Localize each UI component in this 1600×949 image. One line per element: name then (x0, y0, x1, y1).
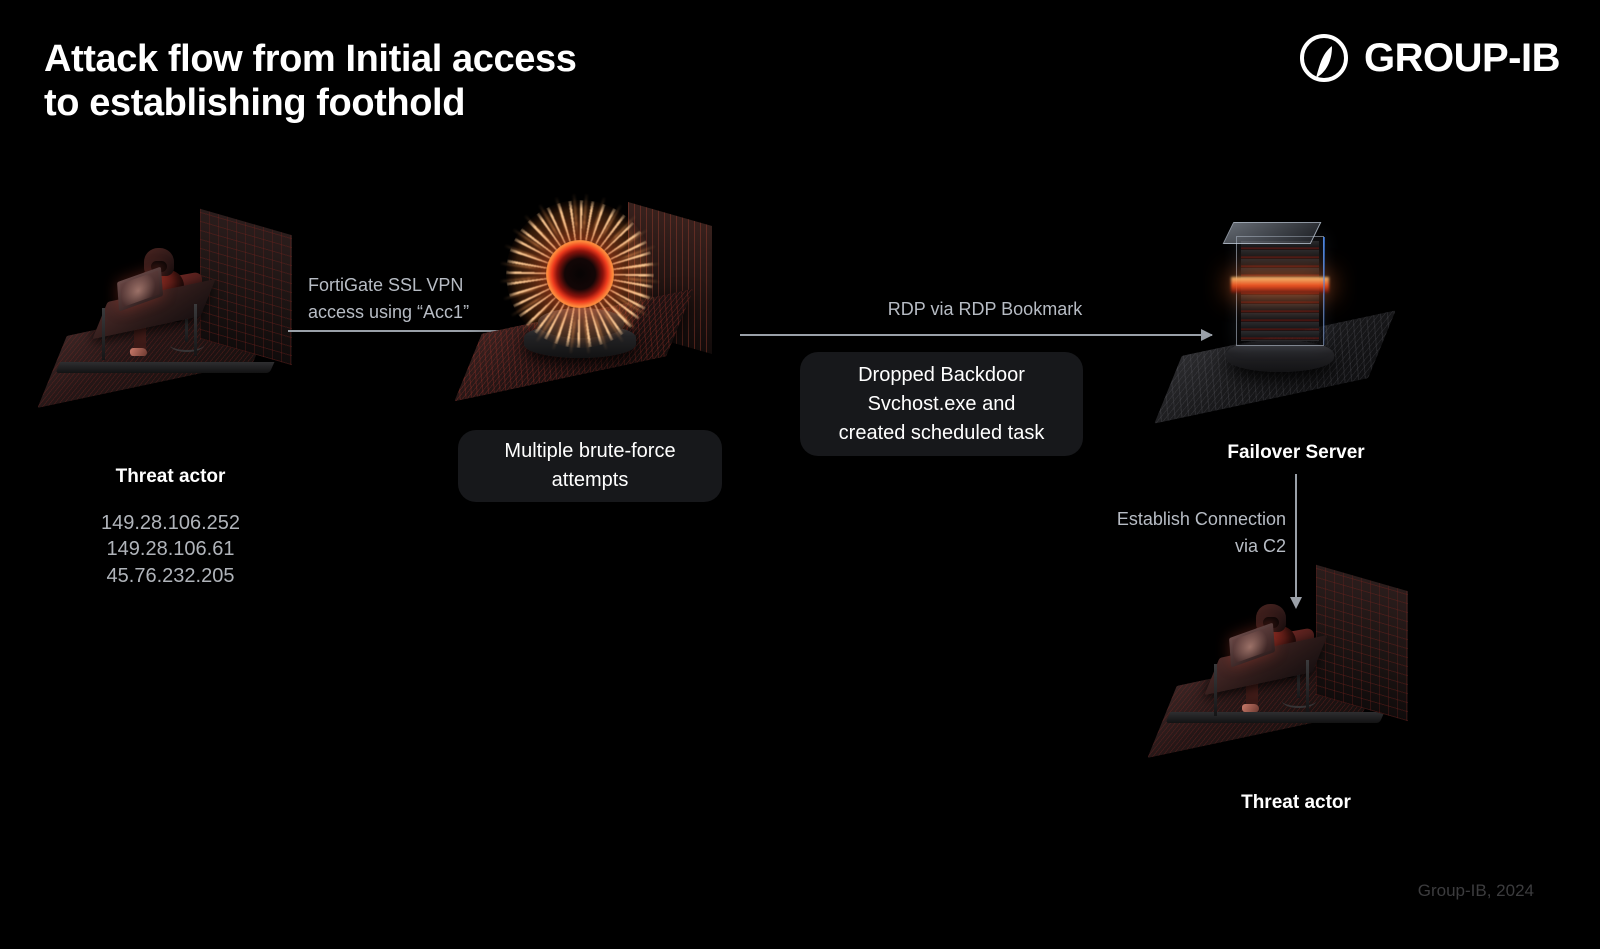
threat-actor-top-caption: Threat actor 149.28.106.252 149.28.106.6… (28, 448, 313, 607)
platform-edge (1166, 712, 1385, 723)
threat-actor-bottom-graphic (1162, 562, 1412, 742)
server-rack (1236, 236, 1324, 346)
brand-logo: GROUP-IB (1298, 32, 1560, 84)
platform-edge (56, 362, 275, 373)
rdp-arrow (740, 334, 1212, 336)
threat-actor-top-graphic (52, 212, 302, 392)
office-chair-base (1282, 694, 1316, 708)
grid-wall-panel (1316, 565, 1408, 721)
failover-server-graphic (1168, 218, 1418, 418)
footer-credit: Group-IB, 2024 (1418, 881, 1534, 901)
server-hot-band (1231, 277, 1329, 293)
c2-edge-label: Establish Connection via C2 (1046, 506, 1286, 560)
brute-force-callout: Multiple brute-force attempts (458, 430, 722, 502)
threat-actor-top-title: Threat actor (28, 466, 313, 488)
group-ib-leaf-logo-icon (1298, 32, 1350, 84)
failover-server-title: Failover Server (1160, 442, 1432, 464)
desk-leg (1214, 664, 1217, 716)
threat-actor-bottom-caption: Threat actor (1160, 774, 1432, 836)
dropped-backdoor-callout: Dropped Backdoor Svchost.exe and created… (800, 352, 1083, 456)
page-title: Attack flow from Initial access to estab… (44, 38, 576, 125)
brute-force-graphic (468, 208, 718, 388)
infographic-canvas: Attack flow from Initial access to estab… (0, 0, 1600, 949)
grid-wall-panel (200, 209, 292, 365)
hacker-shoe (1242, 704, 1259, 712)
office-chair-base (170, 338, 204, 352)
burst-explosion (520, 214, 640, 334)
burst-core (546, 240, 614, 308)
server-glass-lid (1223, 222, 1322, 244)
rdp-edge-label: RDP via RDP Bookmark (740, 296, 1230, 323)
brand-logo-text: GROUP-IB (1364, 36, 1560, 81)
server-edge-highlight (1323, 237, 1325, 345)
hacker-shoe (130, 348, 147, 356)
desk-leg (1306, 660, 1309, 712)
threat-actor-top-ip-list: 149.28.106.252 149.28.106.61 45.76.232.2… (28, 510, 313, 589)
threat-actor-bottom-title: Threat actor (1160, 792, 1432, 814)
desk-leg (102, 308, 105, 360)
desk-leg (194, 304, 197, 356)
